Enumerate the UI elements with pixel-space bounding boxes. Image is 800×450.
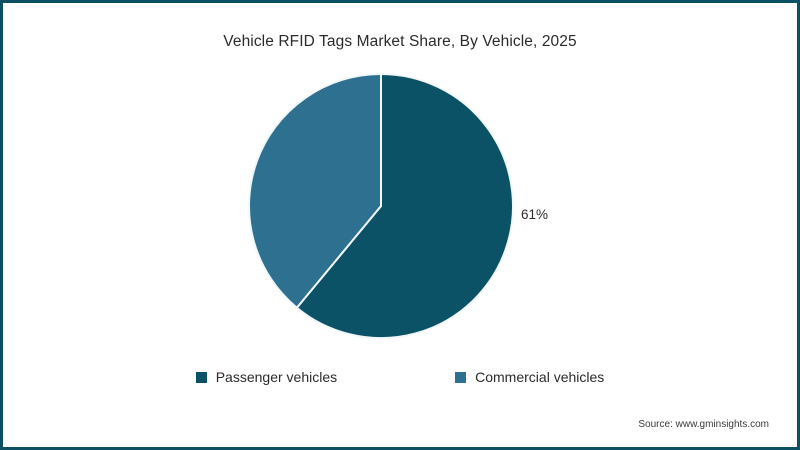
legend-item-passenger-vehicles[interactable]: Passenger vehicles [196, 369, 337, 385]
legend-swatch-icon-passenger [196, 372, 207, 383]
pie-data-label-passenger: 61% [521, 207, 548, 222]
chart-legend: Passenger vehicles Commercial vehicles [3, 369, 797, 385]
legend-item-commercial-vehicles[interactable]: Commercial vehicles [455, 369, 604, 385]
legend-label-commercial: Commercial vehicles [475, 369, 604, 385]
chart-figure: Vehicle RFID Tags Market Share, By Vehic… [0, 0, 800, 450]
legend-swatch-icon-commercial [455, 372, 466, 383]
pie-slice-passenger-vehicles[interactable] [297, 74, 513, 338]
legend-label-passenger: Passenger vehicles [216, 369, 337, 385]
page-title: Vehicle RFID Tags Market Share, By Vehic… [3, 33, 797, 51]
source-attribution: Source: www.gminsights.com [638, 419, 769, 430]
pie-slice-commercial-vehicles[interactable] [249, 74, 381, 308]
